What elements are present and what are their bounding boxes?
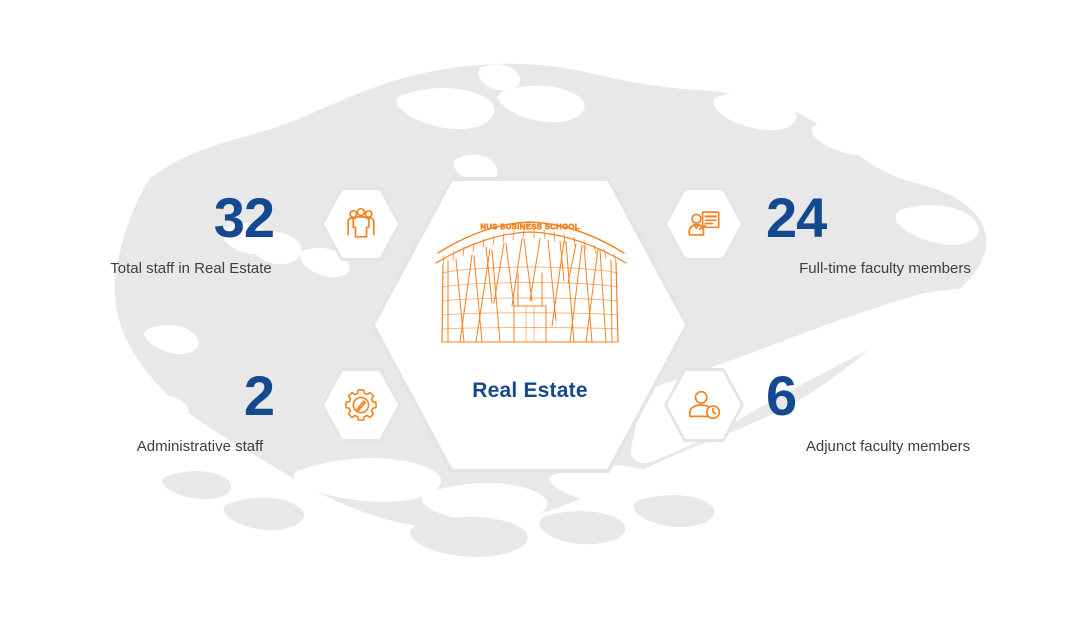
center-hexagon: NUS BUSINESS SCHOOL (375, 181, 685, 469)
infographic-stage: NUS BUSINESS SCHOOL (0, 0, 1080, 633)
stat-value: 24 (766, 190, 1020, 246)
stat-total-staff: 32 Total staff in Real Estate (60, 190, 300, 278)
group-people-icon (342, 205, 380, 243)
stat-label: Total staff in Real Estate (60, 260, 300, 278)
stat-full-time-faculty: 24 Full-time faculty members (760, 190, 1020, 278)
building-facade-caption: NUS BUSINESS SCHOOL (480, 222, 579, 231)
stat-value: 32 (60, 190, 274, 246)
center-title: Real Estate (472, 379, 587, 403)
stat-label: Administrative staff (60, 438, 300, 456)
stat-adjunct-faculty: 6 Adjunct faculty members (760, 368, 1020, 456)
stat-value: 6 (766, 368, 1020, 424)
person-clock-icon (685, 386, 723, 424)
stat-administrative-staff: 2 Administrative staff (60, 368, 300, 456)
presenter-board-icon (685, 205, 723, 243)
stat-label: Full-time faculty members (760, 260, 1020, 278)
gear-pen-icon (342, 386, 380, 424)
nus-business-school-building-icon: NUS BUSINESS SCHOOL (430, 211, 630, 361)
stat-value: 2 (60, 368, 274, 424)
stat-label: Adjunct faculty members (760, 438, 1020, 456)
